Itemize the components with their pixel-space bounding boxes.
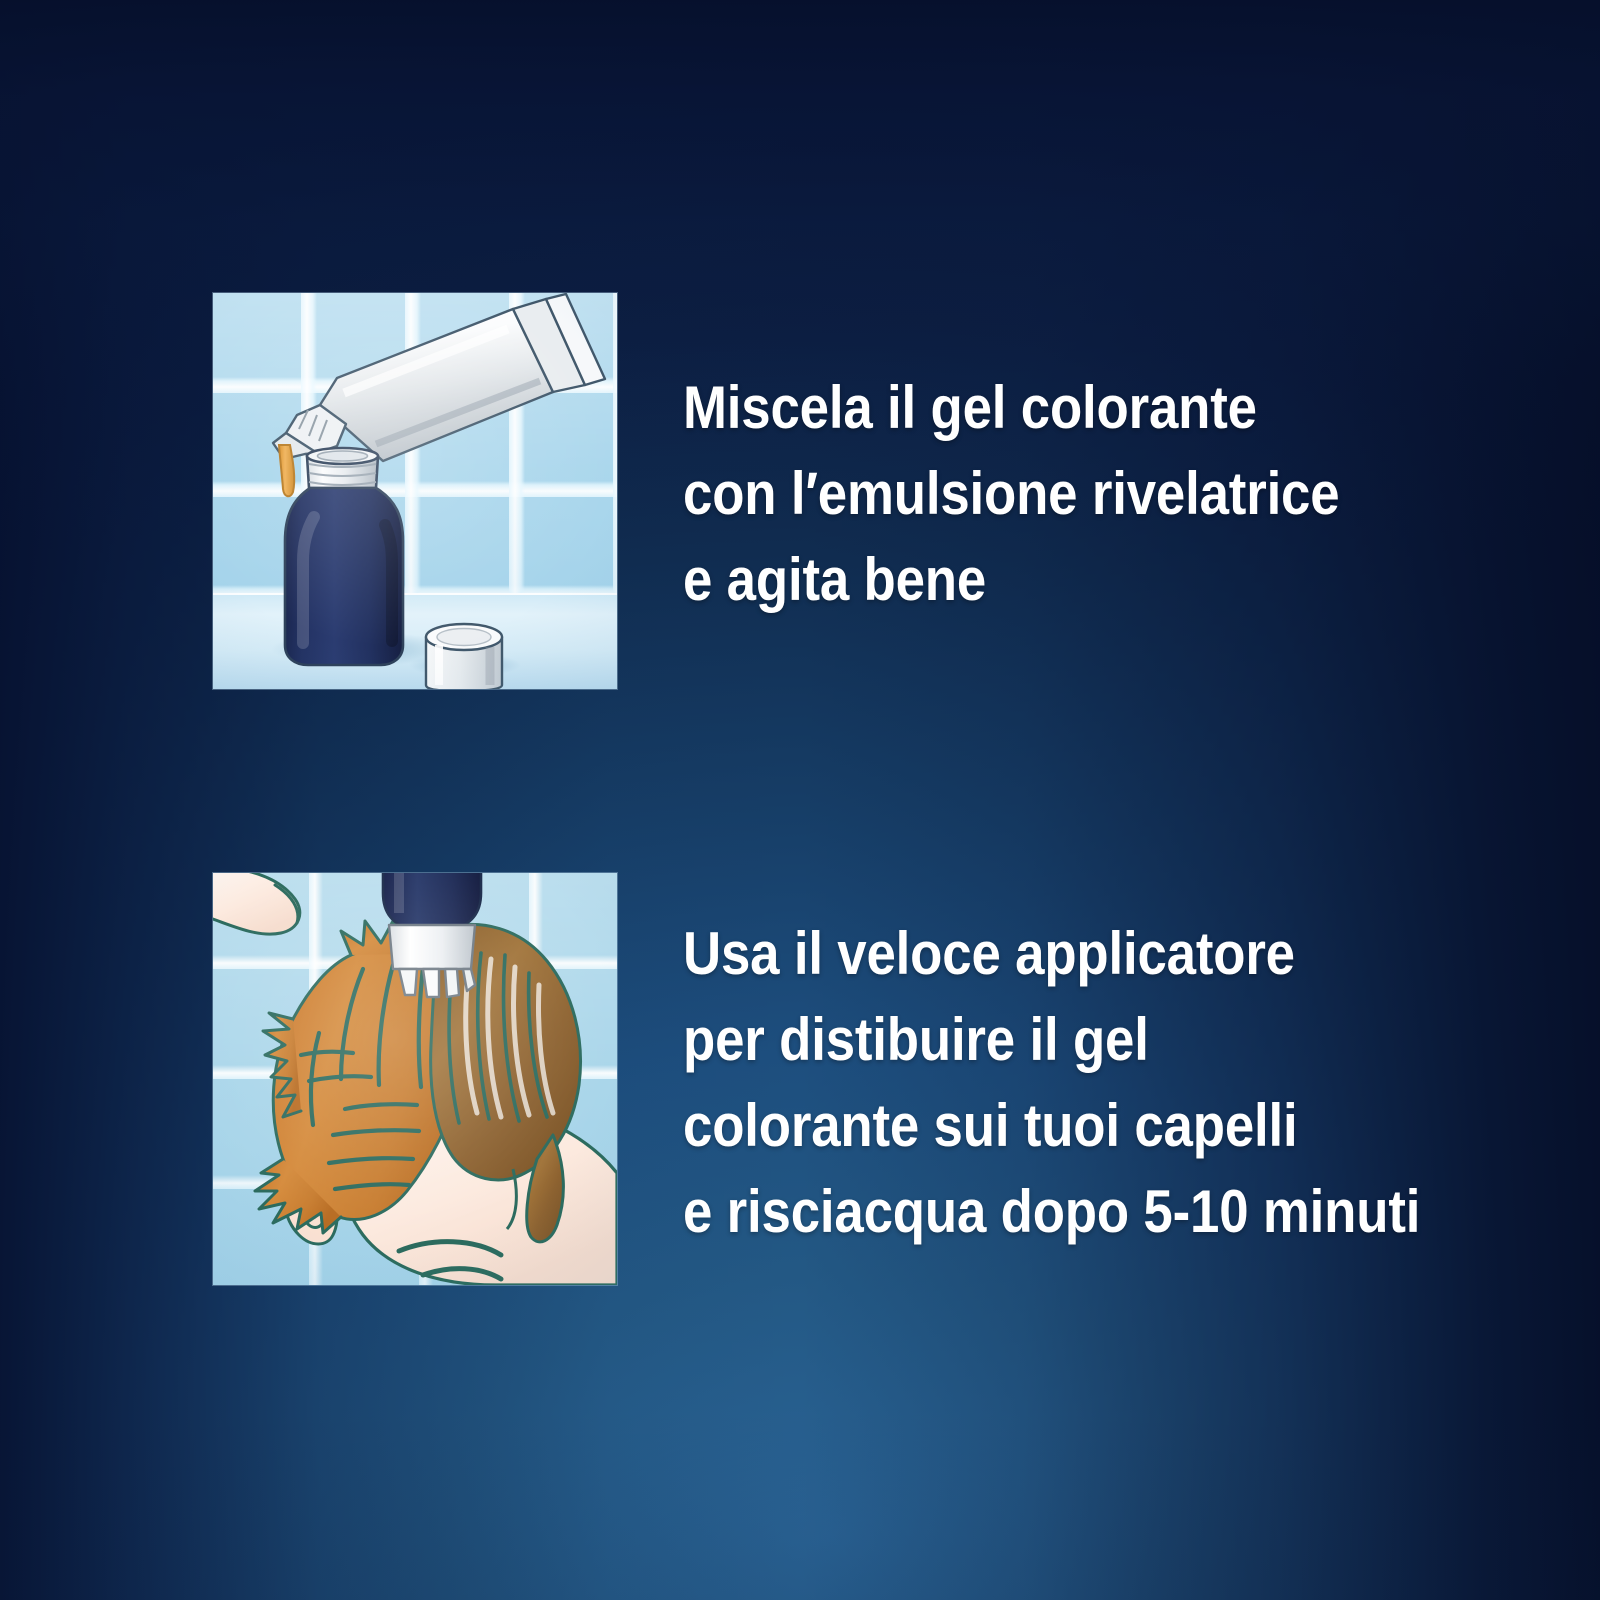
step-2-caption-line-4: e risciacqua dopo 5-10 minuti [683, 1169, 1420, 1255]
step-1-caption-line-3: e agita bene [683, 537, 1339, 623]
step-2-caption-line-3: colorante sui tuoi capelli [683, 1083, 1420, 1169]
developer-bottle [285, 448, 403, 665]
step-2-caption: Usa il veloce applicatore per distibuire… [683, 873, 1521, 1255]
hand [213, 873, 300, 934]
mixing-gel-artwork [213, 293, 617, 689]
step-2-illustration [213, 873, 617, 1285]
step-1-illustration [213, 293, 617, 689]
bottle-cap [426, 624, 502, 689]
squeeze-tube [273, 294, 605, 461]
step-1-row: Miscela il gel colorante con l′emulsione… [213, 293, 1429, 689]
background-gradient-top [0, 0, 1600, 1600]
applicator-bottle [383, 873, 481, 929]
instructions-poster: Miscela il gel colorante con l′emulsione… [0, 0, 1600, 1600]
step-2-caption-line-1: Usa il veloce applicatore [683, 911, 1420, 997]
step-1-caption-line-2: con l′emulsione rivelatrice [683, 451, 1339, 537]
step-2-caption-line-2: per distibuire il gel [683, 997, 1420, 1083]
applying-gel-artwork [213, 873, 617, 1285]
gel-stream [279, 445, 294, 496]
step-1-caption-line-1: Miscela il gel colorante [683, 365, 1339, 451]
step-2-row: Usa il veloce applicatore per distibuire… [213, 873, 1521, 1285]
step-1-caption: Miscela il gel colorante con l′emulsione… [683, 293, 1429, 623]
